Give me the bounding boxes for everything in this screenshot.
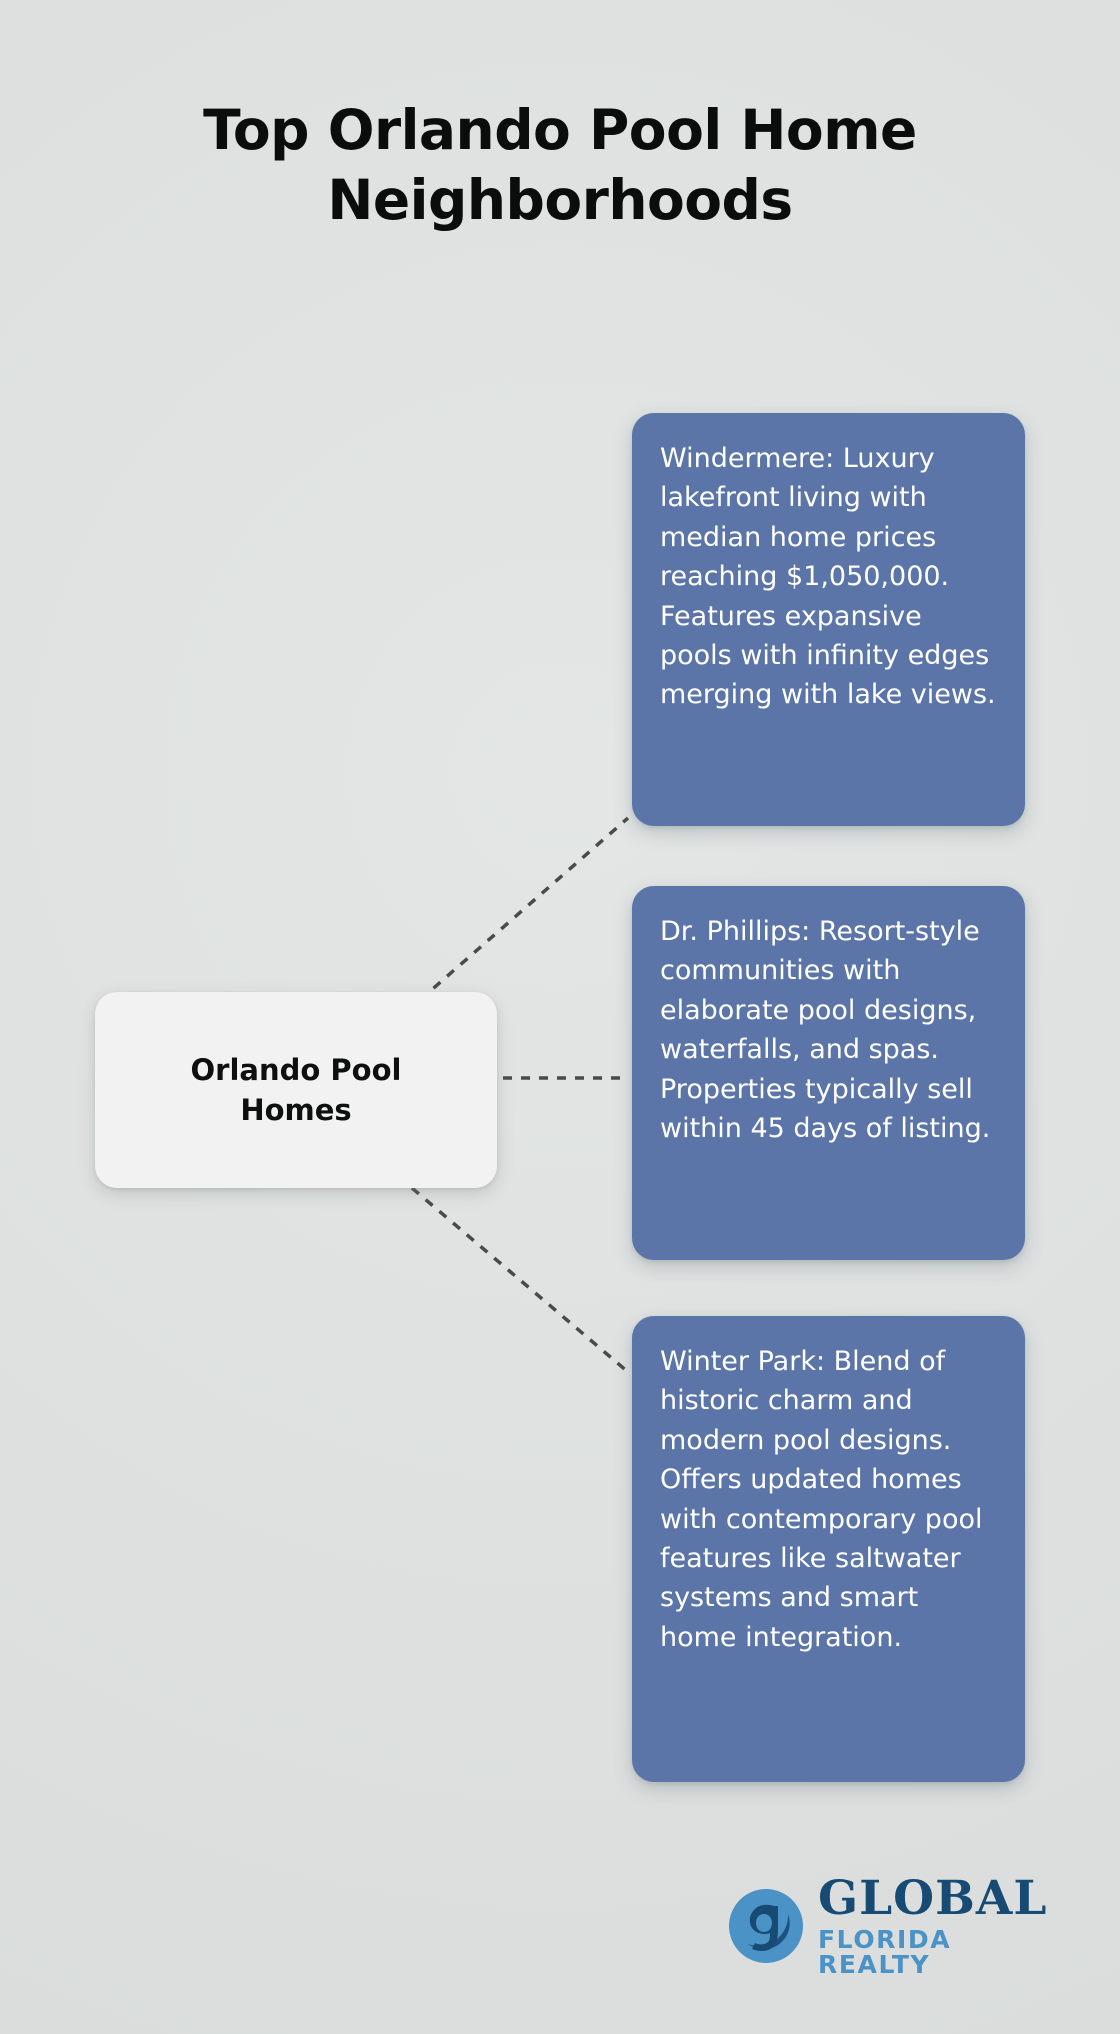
branch-card-text: Windermere: Luxury lakefront living with… xyxy=(660,439,997,715)
branch-card-text: Winter Park: Blend of historic charm and… xyxy=(660,1342,997,1657)
connector-line-windermere xyxy=(420,818,628,1000)
center-node[interactable]: Orlando Pool Homes xyxy=(95,992,497,1188)
connector-line-winter-park xyxy=(412,1188,628,1372)
center-node-label: Orlando Pool Homes xyxy=(135,1050,457,1130)
logo-g-mark-icon xyxy=(728,1888,804,1964)
branch-card-windermere[interactable]: Windermere: Luxury lakefront living with… xyxy=(632,413,1025,826)
branch-card-text: Dr. Phillips: Resort-style communities w… xyxy=(660,912,997,1148)
global-florida-realty-logo[interactable]: GLOBAL FLORIDA REALTY xyxy=(728,1880,1058,1972)
logo-secondary-text: FLORIDA REALTY xyxy=(818,1927,1058,1977)
branch-card-dr-phillips[interactable]: Dr. Phillips: Resort-style communities w… xyxy=(632,886,1025,1260)
logo-primary-text: GLOBAL xyxy=(818,1875,1058,1922)
mind-map-diagram: Orlando Pool Homes Windermere: Luxury la… xyxy=(0,0,1120,2034)
logo-wordmark: GLOBAL FLORIDA REALTY xyxy=(818,1875,1058,1977)
branch-card-winter-park[interactable]: Winter Park: Blend of historic charm and… xyxy=(632,1316,1025,1782)
